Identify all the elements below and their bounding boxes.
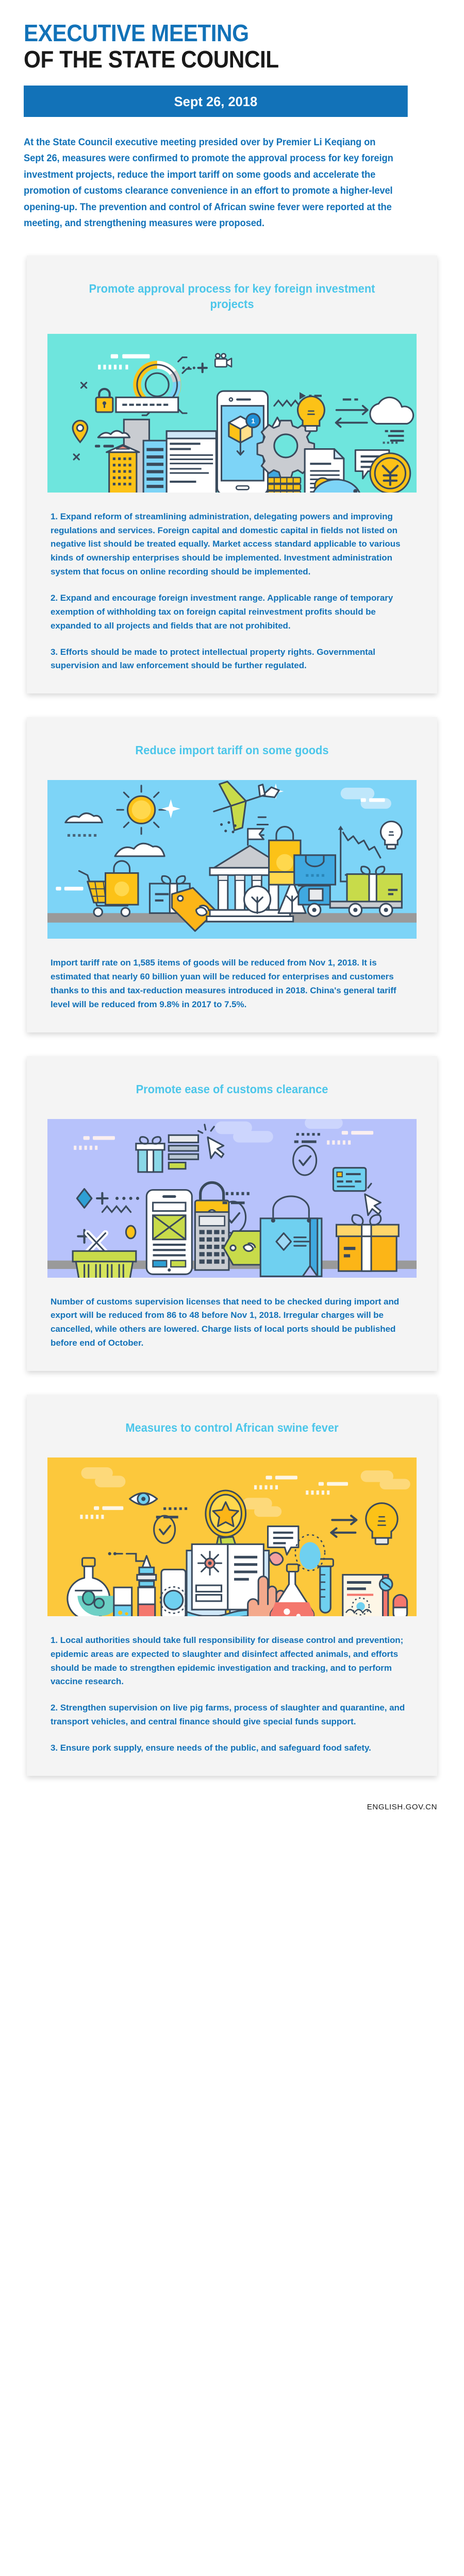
- card-import-tariff: Reduce import tariff on some goods: [27, 717, 437, 1032]
- infographic-page: EXECUTIVE MEETING OF THE STATE COUNCIL S…: [0, 0, 464, 1829]
- source-footer: ENGLISH.GOV.CN: [0, 1776, 464, 1829]
- card-title: Promote ease of customs clearance: [37, 1056, 427, 1119]
- illustration-wrapper: 1: [27, 334, 437, 493]
- intro-paragraph: At the State Council executive meeting p…: [24, 134, 397, 232]
- page-title-line1: EXECUTIVE MEETING: [24, 21, 407, 46]
- card-paragraph: 2. Expand and encourage foreign investme…: [51, 591, 413, 633]
- card-paragraph: 1. Expand reform of streamlining adminis…: [51, 510, 413, 579]
- card-paragraph: 3. Efforts should be made to protect int…: [51, 646, 413, 673]
- svg-text:1: 1: [251, 417, 255, 425]
- card-customs-clearance: Promote ease of customs clearance: [27, 1056, 437, 1371]
- illustration-wrapper: [27, 1119, 437, 1278]
- card-paragraph: 3. Ensure pork supply, ensure needs of t…: [51, 1741, 413, 1755]
- card-body: 1. Expand reform of streamlining adminis…: [27, 493, 437, 679]
- card-body: Number of customs supervision licenses t…: [27, 1278, 437, 1355]
- page-header: EXECUTIVE MEETING OF THE STATE COUNCIL S…: [0, 0, 464, 232]
- card-paragraph: 2. Strengthen supervision on live pig fa…: [51, 1701, 413, 1729]
- import-tariff-illustration: [47, 780, 417, 939]
- card-swine-fever: Measures to control African swine fever: [27, 1395, 437, 1776]
- card-paragraph: 1. Local authorities should take full re…: [51, 1634, 413, 1689]
- card-paragraph: Import tariff rate on 1,585 items of goo…: [51, 956, 413, 1011]
- illustration-wrapper: [27, 1458, 437, 1616]
- customs-clearance-illustration: [47, 1119, 417, 1278]
- card-body: Import tariff rate on 1,585 items of goo…: [27, 939, 437, 1016]
- page-title-line2: OF THE STATE COUNCIL: [24, 47, 407, 72]
- card-title: Reduce import tariff on some goods: [37, 717, 427, 780]
- card-title: Promote approval process for key foreign…: [37, 256, 427, 334]
- card-paragraph: Number of customs supervision licenses t…: [51, 1295, 413, 1350]
- card-title: Measures to control African swine fever: [37, 1395, 427, 1458]
- illustration-wrapper: [27, 780, 437, 939]
- date-badge: Sept 26, 2018: [24, 86, 408, 117]
- card-body: 1. Local authorities should take full re…: [27, 1616, 437, 1760]
- swine-fever-illustration: [47, 1458, 417, 1616]
- foreign-investment-illustration: 1: [47, 334, 417, 493]
- card-foreign-investment: Promote approval process for key foreign…: [27, 256, 437, 693]
